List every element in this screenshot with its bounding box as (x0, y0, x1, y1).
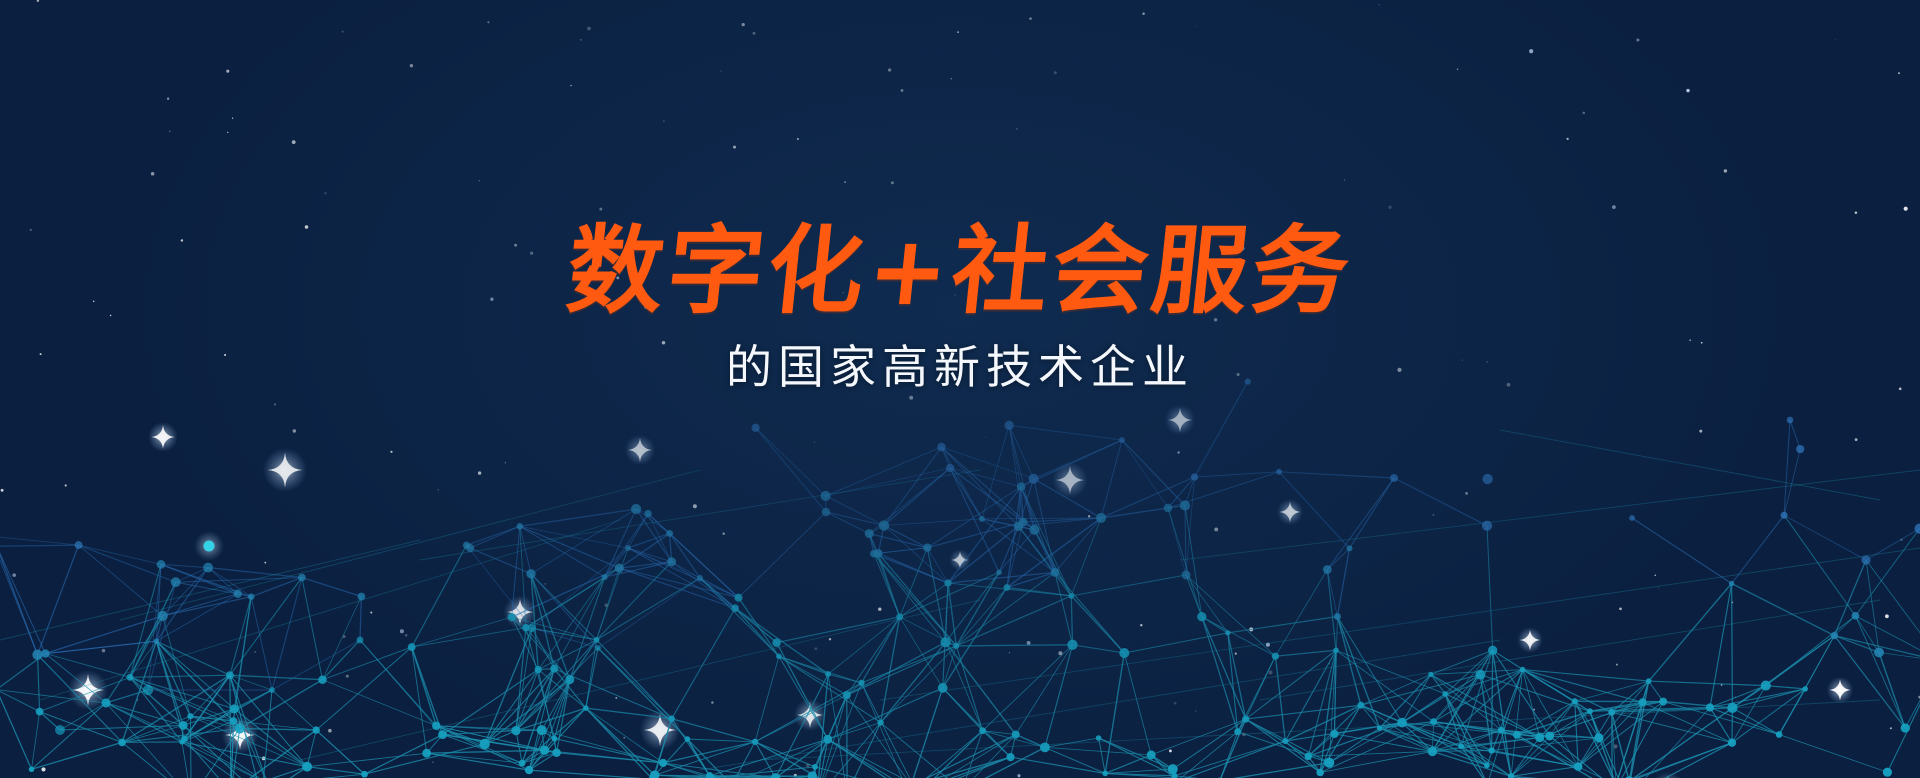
page-title: 数字化+社会服务 (0, 218, 1920, 326)
hero-banner: 数字化+社会服务 的国家高新技术企业 (0, 0, 1920, 778)
hero-text-block: 数字化+社会服务 的国家高新技术企业 (0, 218, 1920, 395)
page-subtitle: 的国家高新技术企业 (0, 340, 1920, 395)
